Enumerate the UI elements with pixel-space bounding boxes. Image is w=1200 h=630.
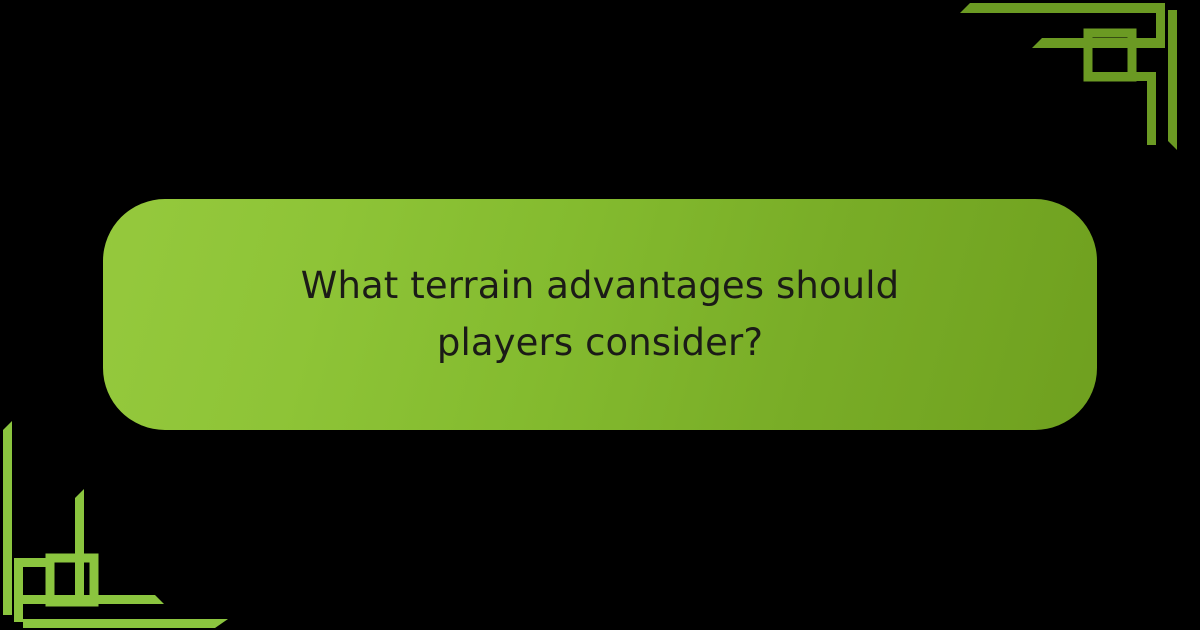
question-card[interactable]: What terrain advantages should players c… [103,199,1097,430]
angle-bracket-icon [1085,72,1156,145]
top-right-corner-ornament [960,0,1200,150]
short-vertical-rule-icon [75,489,84,600]
small-square-icon [50,558,94,602]
angle-bracket-icon [14,558,48,622]
horizontal-rule-upper-icon [960,3,1160,13]
horizontal-rule-upper-icon [23,595,164,604]
small-square-icon [1088,33,1132,77]
vertical-connector-icon [1156,3,1165,48]
question-text: What terrain advantages should players c… [250,258,950,370]
slide-canvas: What terrain advantages should players c… [0,0,1200,630]
vertical-descender-icon [1168,10,1177,150]
bottom-left-corner-ornament [0,410,250,630]
long-vertical-rule-icon [3,421,12,615]
horizontal-rule-lower-icon [1032,38,1165,48]
horizontal-rule-lower-icon [23,619,228,628]
